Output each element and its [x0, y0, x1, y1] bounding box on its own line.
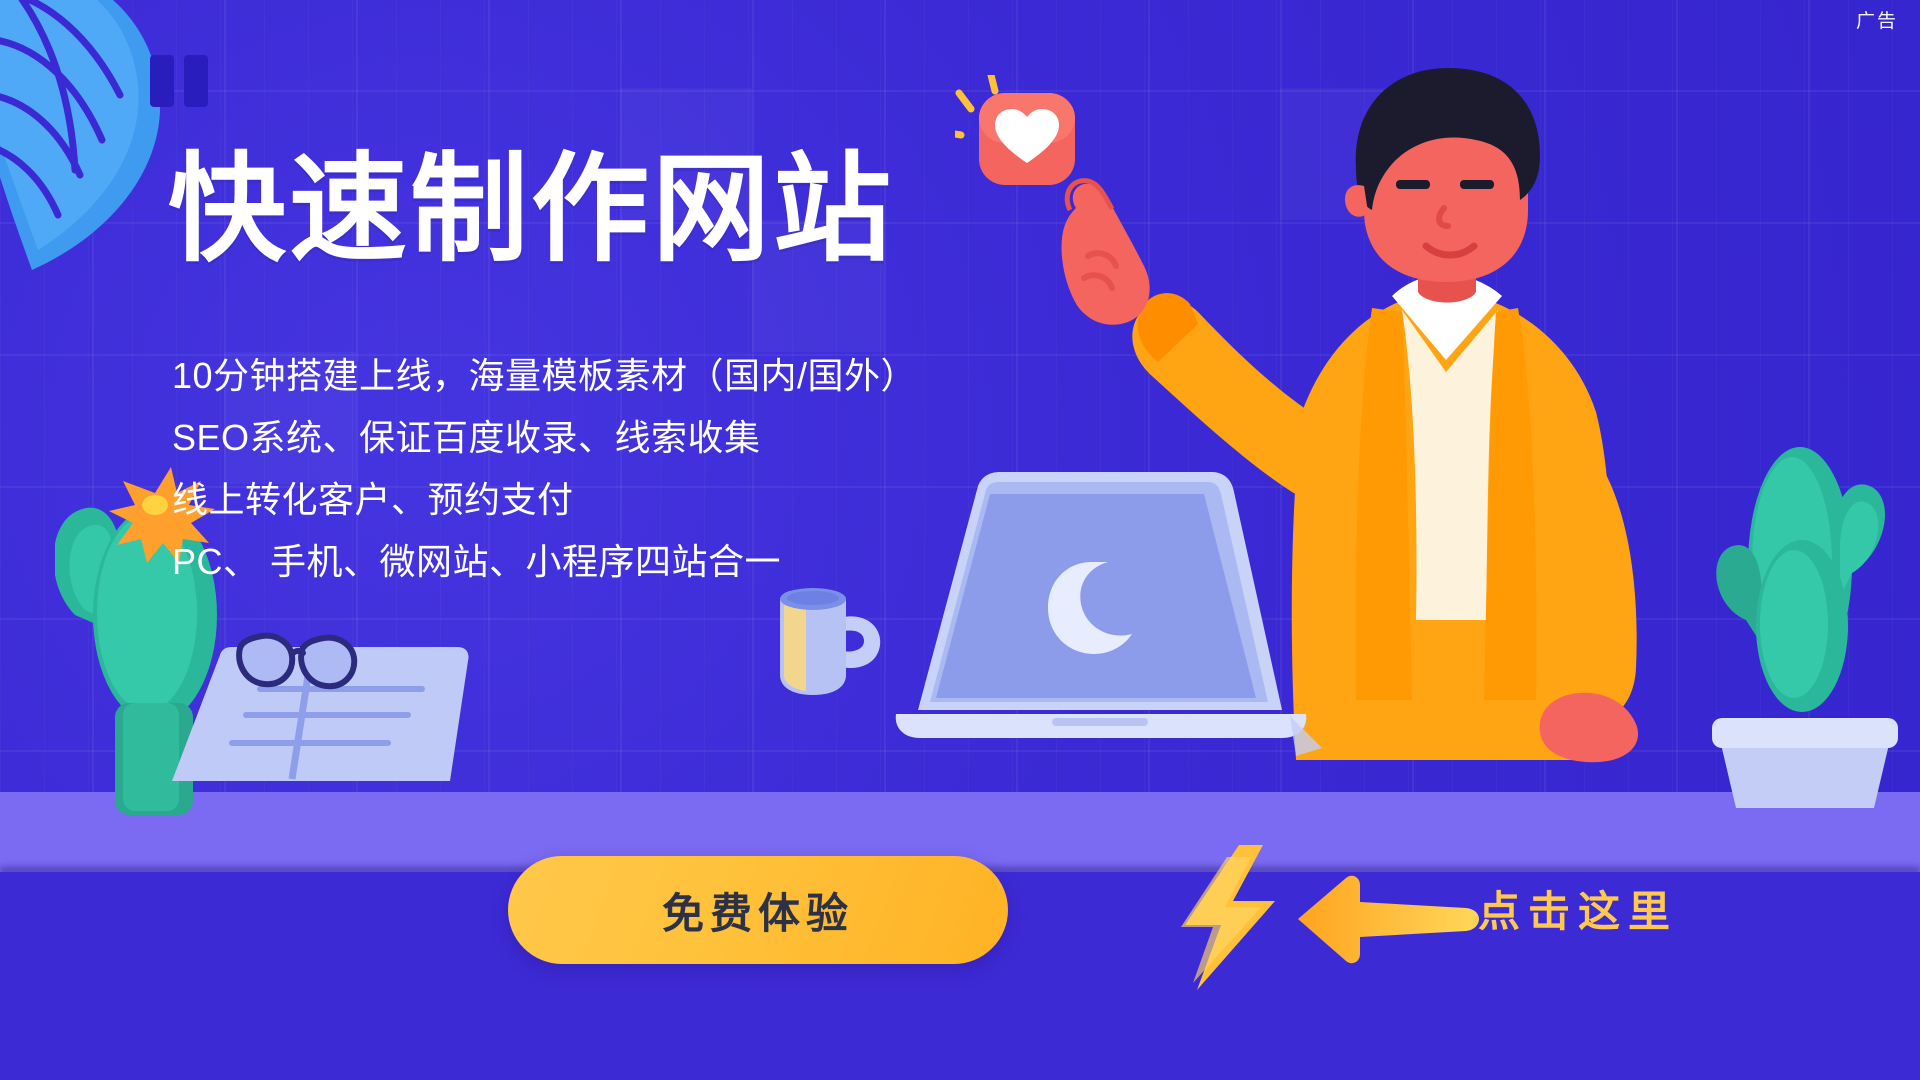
arrow-left-icon[interactable]: [1290, 872, 1480, 967]
click-here-callout: 点击这里: [1478, 878, 1678, 939]
list-item: SEO系统、保证百度收录、线索收集: [172, 407, 992, 469]
lightning-bolt-icon: [1175, 845, 1285, 990]
page-title: 快速制作网站: [168, 148, 894, 273]
potted-plant-illustration: [1690, 540, 1920, 810]
free-trial-button[interactable]: 免费体验: [508, 856, 1008, 964]
list-item: PC、 手机、微网站、小程序四站合一: [172, 531, 992, 593]
ad-label: 广告: [1856, 6, 1898, 33]
list-item: 线上转化客户、预约支付: [172, 469, 992, 531]
feature-list: 10分钟搭建上线，海量模板素材（国内/国外） SEO系统、保证百度收录、线索收集…: [172, 345, 992, 593]
coffee-mug-illustration: [770, 575, 885, 700]
quote-mark-icon: [150, 55, 212, 110]
glasses-illustration: [232, 620, 362, 700]
advertisement-banner: 快速制作网站 10分钟搭建上线，海量模板素材（国内/国外） SEO系统、保证百度…: [0, 0, 1920, 1080]
list-item: 10分钟搭建上线，海量模板素材（国内/国外）: [172, 345, 992, 407]
